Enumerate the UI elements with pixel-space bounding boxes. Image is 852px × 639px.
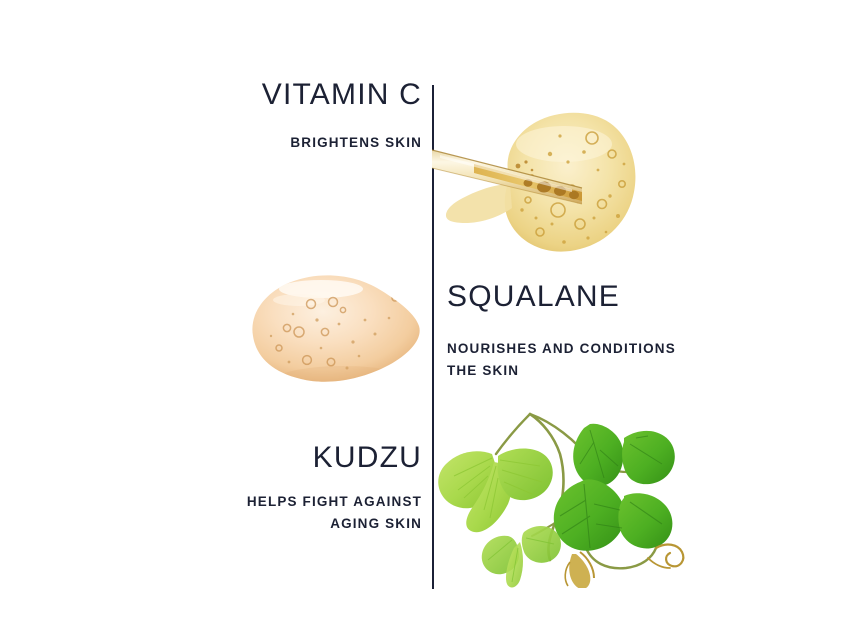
benefit-line: THE SKIN bbox=[447, 360, 737, 382]
ingredient-title-kudzu: KUDZU bbox=[313, 443, 422, 473]
benefit-line: AGING SKIN bbox=[122, 513, 422, 535]
ingredient-benefit-kudzu: HELPS FIGHT AGAINST AGING SKIN bbox=[122, 491, 422, 535]
gel-droplet-image bbox=[243, 262, 429, 398]
ingredient-benefit-vitamin-c: BRIGHTENS SKIN bbox=[122, 132, 422, 154]
benefit-line: HELPS FIGHT AGAINST bbox=[122, 491, 422, 513]
ingredient-benefit-squalane: NOURISHES AND CONDITIONS THE SKIN bbox=[447, 338, 737, 382]
ingredient-title-squalane: SQUALANE bbox=[447, 282, 620, 312]
serum-dropper-image bbox=[432, 92, 652, 272]
kudzu-plant-image bbox=[434, 392, 696, 588]
ingredient-title-vitamin-c: VITAMIN C bbox=[262, 80, 422, 110]
infographic-canvas: VITAMIN C BRIGHTENS SKIN bbox=[0, 0, 852, 639]
benefit-line: NOURISHES AND CONDITIONS bbox=[447, 338, 737, 360]
